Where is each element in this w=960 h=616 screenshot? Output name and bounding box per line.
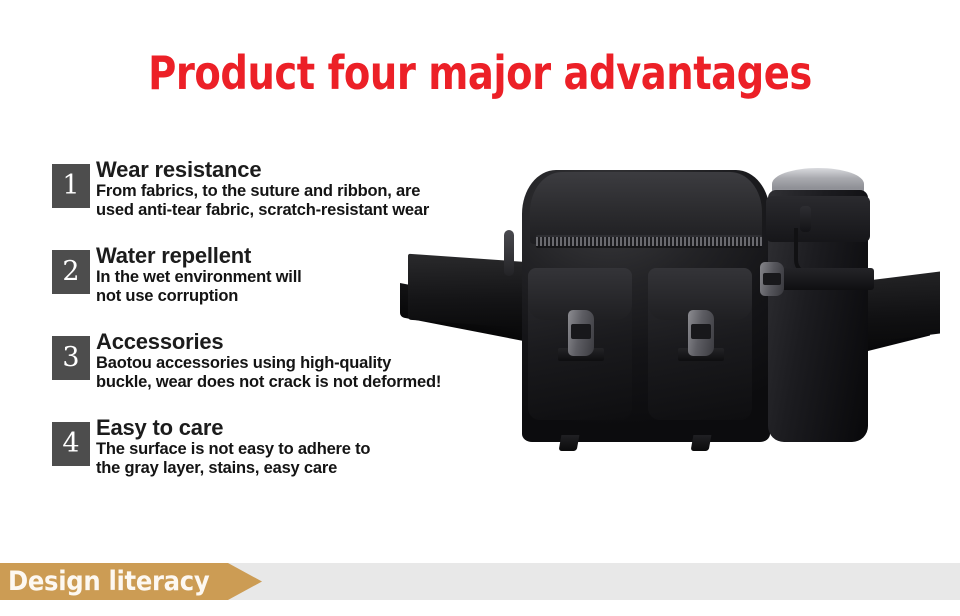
feature-number-badge-1: 1	[52, 164, 90, 208]
feature-desc-2-line-2: not use corruption	[96, 287, 552, 306]
feature-item-2: 2 Water repellent In the wet environment…	[52, 244, 552, 330]
feature-list: 1 Wear resistance From fabrics, to the s…	[52, 158, 552, 502]
feature-desc-4-line-1: The surface is not easy to adhere to	[96, 440, 552, 459]
bottom-webbing-tab-right	[691, 435, 712, 451]
feature-desc-2-line-1: In the wet environment will	[96, 268, 552, 287]
bottle-holder-buckle	[760, 262, 784, 296]
feature-desc-1-line-2: used anti-tear fabric, scratch-resistant…	[96, 201, 552, 220]
feature-heading-2: Water repellent	[96, 244, 552, 268]
feature-item-3: 3 Accessories Baotou accessories using h…	[52, 330, 552, 416]
bottom-webbing-tab-left	[559, 435, 580, 451]
feature-desc-4-line-2: the gray layer, stains, easy care	[96, 459, 552, 478]
feature-text-3: Accessories Baotou accessories using hig…	[96, 330, 552, 392]
feature-heading-1: Wear resistance	[96, 158, 552, 182]
bottom-banner-label: Design literacy	[8, 563, 209, 600]
feature-item-1: 1 Wear resistance From fabrics, to the s…	[52, 158, 552, 244]
side-release-buckle-right	[688, 310, 714, 356]
feature-heading-3: Accessories	[96, 330, 552, 354]
feature-number-badge-2: 2	[52, 250, 90, 294]
feature-desc-1-line-1: From fabrics, to the suture and ribbon, …	[96, 182, 552, 201]
feature-number-badge-4: 4	[52, 422, 90, 466]
feature-desc-3-line-1: Baotou accessories using high-quality	[96, 354, 552, 373]
feature-number-badge-3: 3	[52, 336, 90, 380]
side-release-buckle-left	[568, 310, 594, 356]
feature-item-4: 4 Easy to care The surface is not easy t…	[52, 416, 552, 502]
drawstring-cord-lock	[800, 206, 811, 232]
page-title: Product four major advantages	[34, 46, 927, 100]
feature-heading-4: Easy to care	[96, 416, 552, 440]
feature-text-1: Wear resistance From fabrics, to the sut…	[96, 158, 552, 220]
top-zipper	[536, 235, 762, 248]
feature-desc-3-line-2: buckle, wear does not crack is not defor…	[96, 373, 552, 392]
bag-top-lid	[530, 172, 762, 244]
product-advantages-infographic: Product four major advantages 1 Wear res…	[0, 0, 960, 616]
feature-text-4: Easy to care The surface is not easy to …	[96, 416, 552, 478]
feature-text-2: Water repellent In the wet environment w…	[96, 244, 552, 306]
